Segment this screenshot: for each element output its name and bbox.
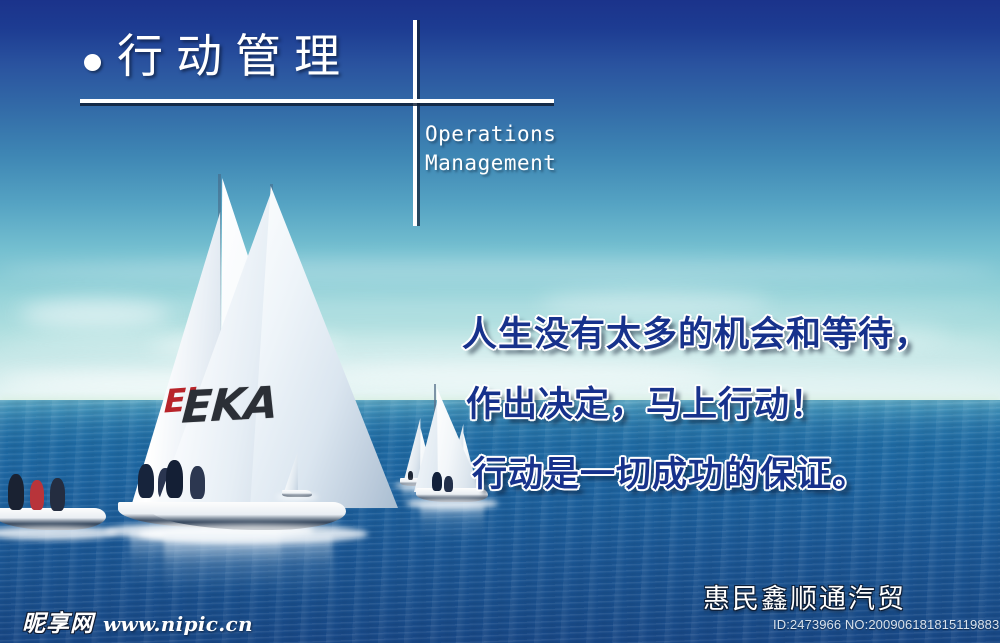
image-id-watermark: ID:2473966 NO:20090618181511988370 bbox=[773, 617, 1000, 632]
slogan-line-3: 行动是一切成功的保证。 bbox=[462, 440, 932, 510]
cloud-band bbox=[0, 258, 1000, 284]
nipic-watermark[interactable]: 昵享网 www.nipic.cn bbox=[22, 604, 253, 638]
page-subtitle: Operations Management bbox=[425, 120, 556, 178]
company-name: 惠民鑫顺通汽贸 bbox=[703, 585, 906, 615]
cloud-puff bbox=[20, 300, 170, 330]
nipic-brand-label: 昵享网 bbox=[22, 604, 94, 638]
horizontal-rule bbox=[80, 99, 554, 103]
slogan-line-2: 作出决定，马上行动！ bbox=[462, 370, 932, 440]
slogan-block: 人生没有太多的机会和等待， 作出决定，马上行动！ 行动是一切成功的保证。 bbox=[462, 300, 932, 510]
poster-canvas: EKA 4 EKA 行动管理 Operations bbox=[0, 0, 1000, 643]
nipic-url-label: www.nipic.cn bbox=[103, 612, 253, 636]
slogan-line-1: 人生没有太多的机会和等待， bbox=[462, 300, 932, 370]
subtitle-line-1: Operations bbox=[425, 120, 556, 149]
vertical-rule bbox=[413, 20, 417, 226]
subtitle-line-2: Management bbox=[425, 149, 556, 178]
sail-logo-eka-primary: EKA bbox=[180, 377, 279, 433]
page-title: 行动管理 bbox=[117, 30, 353, 82]
bullet-dot-icon bbox=[84, 54, 101, 71]
